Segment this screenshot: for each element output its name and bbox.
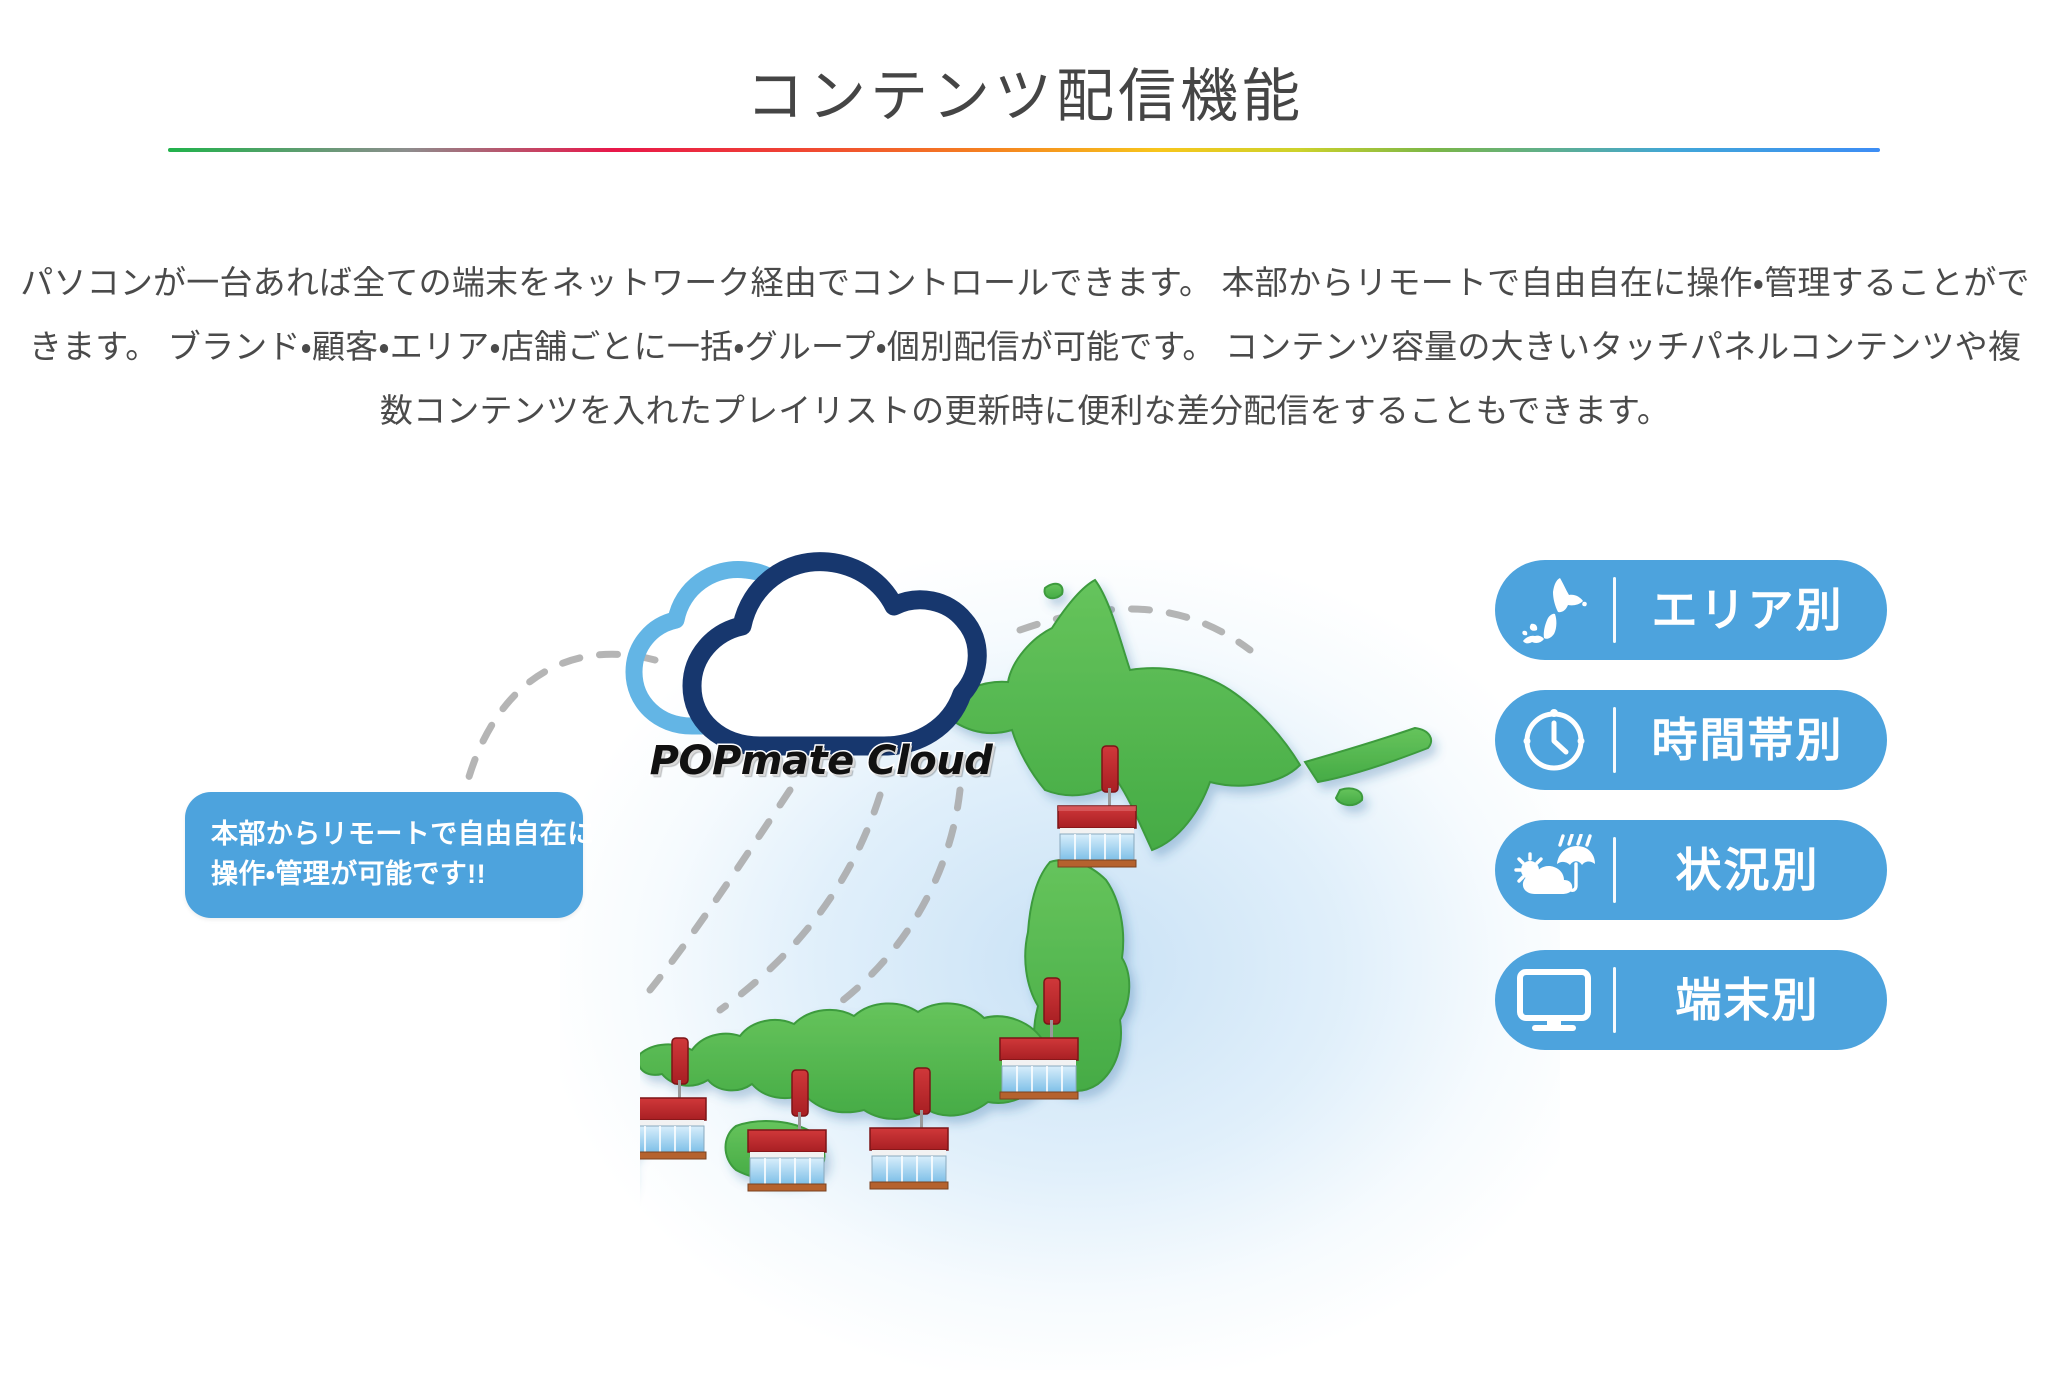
popmate-cloud-wordmark: POPmate Cloud (596, 738, 1046, 784)
monitor-icon (1495, 950, 1613, 1050)
page-title: コンテンツ配信機能 (0, 61, 2050, 134)
pill-divider (1613, 577, 1616, 643)
clock-icon (1495, 690, 1613, 790)
pill-label-condition: 状況別 (1616, 847, 1887, 893)
weather-icon (1495, 820, 1613, 920)
pill-button-device[interactable]: 端末別 (1495, 950, 1887, 1050)
content-distribution-page: コンテンツ配信機能 パソコンが一台あれば全ての端末をネットワーク経由でコントロー… (0, 0, 2050, 1390)
pill-divider (1613, 837, 1616, 903)
cloud-front-shape (692, 562, 977, 746)
pill-button-condition[interactable]: 状況別 (1495, 820, 1887, 920)
pill-button-area[interactable]: エリア別 (1495, 560, 1887, 660)
pill-divider (1613, 967, 1616, 1033)
distribution-diagram: POPmate Cloud 本部からリモートで自由自在に 操作・管理が可能です!… (0, 540, 2050, 1390)
title-gradient-rule (168, 148, 1880, 152)
remote-control-callout: 本部からリモートで自由自在に 操作・管理が可能です!! (185, 792, 583, 918)
pill-label-device: 端末別 (1616, 977, 1887, 1023)
callout-line-2: 操作・管理が可能です!! (211, 854, 557, 894)
pill-label-timeslot: 時間帯別 (1616, 717, 1887, 763)
filter-pill-stack: エリア別 時間帯別 (1495, 560, 1895, 1080)
pill-label-area: エリア別 (1616, 587, 1887, 633)
pill-divider (1613, 707, 1616, 773)
japan-map-icon (1495, 560, 1613, 660)
description-paragraph: パソコンが一台あれば全ての端末をネットワーク経由でコントロールできます。 本部か… (18, 251, 2032, 443)
pill-button-timeslot[interactable]: 時間帯別 (1495, 690, 1887, 790)
callout-line-1: 本部からリモートで自由自在に (211, 814, 557, 854)
